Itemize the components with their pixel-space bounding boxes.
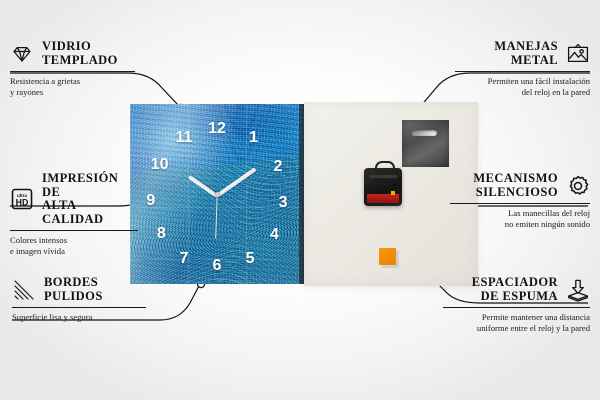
svg-text:HD: HD — [16, 197, 29, 207]
callout-polished-edges: BORDES PULIDOS Superficie lisa y segura — [12, 276, 146, 323]
callout-rule — [443, 307, 590, 308]
clock-numeral: 7 — [179, 251, 188, 267]
clock-numeral: 12 — [208, 121, 226, 137]
callout-rule — [10, 230, 138, 231]
clock-front-face: 12 1 2 3 4 5 6 7 8 9 10 11 — [130, 104, 304, 284]
callout-title-line2: TEMPLADO — [42, 54, 118, 68]
callout-desc-line2: del reloj en la pared — [455, 87, 590, 98]
callout-desc-line2: uniforme entre el reloj y la pared — [443, 323, 590, 334]
callout-desc-line1: Superficie lisa y segura — [12, 312, 146, 323]
callout-rule — [10, 71, 135, 72]
clock-mechanism — [364, 168, 402, 206]
clock-numeral: 3 — [279, 195, 288, 211]
callout-desc-line1: Colores intensos — [10, 235, 138, 246]
callout-desc-line2: y rayones — [10, 87, 135, 98]
callout-hd-print: ultra HD IMPRESIÓN DE ALTA CALIDAD Color… — [10, 172, 138, 256]
callout-title-line1: IMPRESIÓN DE — [42, 172, 138, 199]
callout-tempered-glass: VIDRIO TEMPLADO Resistencia a grietas y … — [10, 40, 135, 97]
callout-desc-line1: Resistencia a grietas — [10, 76, 135, 87]
callout-title-line2: ALTA CALIDAD — [42, 199, 138, 226]
clock-numeral: 5 — [246, 251, 255, 267]
diamond-icon — [10, 42, 34, 66]
callout-title-line1: ESPACIADOR — [472, 276, 558, 290]
callout-title-line1: MANEJAS — [494, 40, 558, 54]
gear-icon — [566, 174, 590, 198]
infographic-canvas: 12 1 2 3 4 5 6 7 8 9 10 11 — [0, 0, 600, 400]
callout-title-line1: MECANISMO — [473, 172, 558, 186]
callout-title-line2: METAL — [494, 54, 558, 68]
clock-numeral: 1 — [249, 130, 258, 146]
callout-title-line2: DE ESPUMA — [472, 290, 558, 304]
callout-desc-line2: no emiten ningún sonido — [450, 219, 590, 230]
hanger-slot — [411, 130, 437, 136]
clock-numeral: 2 — [273, 159, 282, 175]
mechanism-slot — [369, 175, 397, 178]
callout-desc-line1: Permite mantener una distancia — [443, 312, 590, 323]
callout-rule — [455, 71, 590, 72]
arrow-down-onto-pad-icon — [566, 278, 590, 302]
mechanism-hook — [375, 161, 395, 173]
callout-metal-handles: MANEJAS METAL Permiten una fácil instala… — [455, 40, 590, 97]
callout-rule — [12, 307, 146, 308]
polished-edge-stripes-icon — [12, 278, 36, 302]
clock-numeral: 4 — [270, 227, 279, 243]
callout-desc-line2: e imagen vívida — [10, 246, 138, 257]
clock-numeral: 6 — [213, 258, 222, 274]
clock-numeral: 10 — [151, 157, 169, 173]
clock-numeral: 11 — [175, 130, 192, 146]
wall-picture-hanger-icon — [566, 42, 590, 66]
metal-hanger-plate — [402, 120, 449, 167]
callout-title-line2: PULIDOS — [44, 290, 103, 304]
callout-silent-mechanism: MECANISMO SILENCIOSO Las manecillas del … — [450, 172, 590, 229]
product-image: 12 1 2 3 4 5 6 7 8 9 10 11 — [130, 104, 478, 284]
clock-numeral: 9 — [146, 193, 155, 209]
callout-desc-line1: Permiten una fácil instalación — [455, 76, 590, 87]
callout-title-line2: SILENCIOSO — [473, 186, 558, 200]
clock-center-pin — [215, 192, 220, 197]
callout-rule — [450, 203, 590, 204]
callout-title-line1: VIDRIO — [42, 40, 118, 54]
battery — [367, 194, 399, 203]
foam-spacer — [379, 248, 396, 265]
callout-foam-spacer: ESPACIADOR DE ESPUMA Permite mantener un… — [443, 276, 590, 333]
clock-numeral: 8 — [157, 226, 166, 242]
callout-desc-line1: Las manecillas del reloj — [450, 208, 590, 219]
ultra-hd-badge-icon: ultra HD — [10, 187, 34, 211]
callout-title-line1: BORDES — [44, 276, 103, 290]
